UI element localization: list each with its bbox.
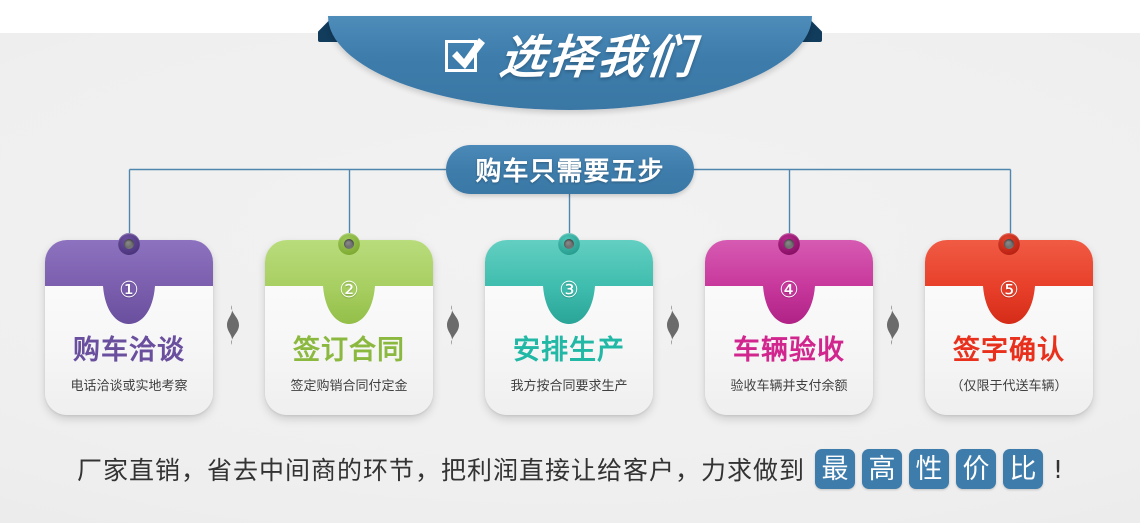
- footer-tagline: 厂家直销，省去中间商的环节，把利润直接让给客户，力求做到 最 高 性 价 比 !: [0, 443, 1140, 495]
- step-number-1: ①: [45, 280, 213, 302]
- step-title-5: 签字确认: [925, 336, 1093, 366]
- infographic-canvas: 选择我们 购车只需要五步: [0, 0, 1140, 523]
- step-title-4: 车辆验收: [705, 336, 873, 366]
- footer-highlight-5: 比: [1003, 449, 1043, 489]
- step-number-4: ④: [705, 280, 873, 302]
- step-subtitle-2: 签定购销合同付定金: [265, 375, 433, 394]
- step-subtitle-1: 电话洽谈或实地考察: [45, 375, 213, 394]
- step-subtitle-5: （仅限于代送车辆）: [925, 375, 1093, 394]
- step-title-3: 安排生产: [485, 336, 653, 366]
- footer-suffix: !: [1053, 455, 1063, 484]
- arrow-right-leaf-icon-3: [665, 305, 681, 345]
- step-title-2: 签订合同: [265, 336, 433, 366]
- step-title-1: 购车洽谈: [45, 336, 213, 366]
- step-card-4[interactable]: ④ 车辆验收 验收车辆并支付余额: [705, 240, 873, 415]
- center-pill-label: 购车只需要五步: [475, 151, 664, 188]
- step-eyelet-3: [558, 233, 580, 255]
- arrow-right-leaf-icon-2: [445, 305, 461, 345]
- footer-text: 厂家直销，省去中间商的环节，把利润直接让给客户，力求做到: [77, 451, 805, 487]
- footer-highlight-group: 最 高 性 价 比: [815, 449, 1043, 489]
- step-card-5[interactable]: ⑤ 签字确认 （仅限于代送车辆）: [925, 240, 1093, 415]
- footer-highlight-1: 最: [815, 449, 855, 489]
- checkbox-check-icon: [444, 36, 486, 78]
- banner-title: 选择我们: [498, 34, 699, 80]
- arrow-right-leaf-icon-4: [885, 305, 901, 345]
- step-card-2[interactable]: ② 签订合同 签定购销合同付定金: [265, 240, 433, 415]
- step-subtitle-4: 验收车辆并支付余额: [705, 375, 873, 394]
- step-subtitle-3: 我方按合同要求生产: [485, 375, 653, 394]
- footer-highlight-3: 性: [909, 449, 949, 489]
- step-number-2: ②: [265, 280, 433, 302]
- footer-highlight-2: 高: [862, 449, 902, 489]
- banner-body: 选择我们: [328, 16, 812, 110]
- step-card-3[interactable]: ③ 安排生产 我方按合同要求生产: [485, 240, 653, 415]
- step-eyelet-4: [778, 233, 800, 255]
- footer-highlight-4: 价: [956, 449, 996, 489]
- header-banner: 选择我们: [318, 8, 822, 112]
- step-number-3: ③: [485, 280, 653, 302]
- step-number-5: ⑤: [925, 280, 1093, 302]
- step-eyelet-1: [118, 233, 140, 255]
- arrow-right-leaf-icon-1: [225, 305, 241, 345]
- center-pill-badge: 购车只需要五步: [446, 145, 694, 194]
- step-card-1[interactable]: ① 购车洽谈 电话洽谈或实地考察: [45, 240, 213, 415]
- step-eyelet-5: [998, 233, 1020, 255]
- step-eyelet-2: [338, 233, 360, 255]
